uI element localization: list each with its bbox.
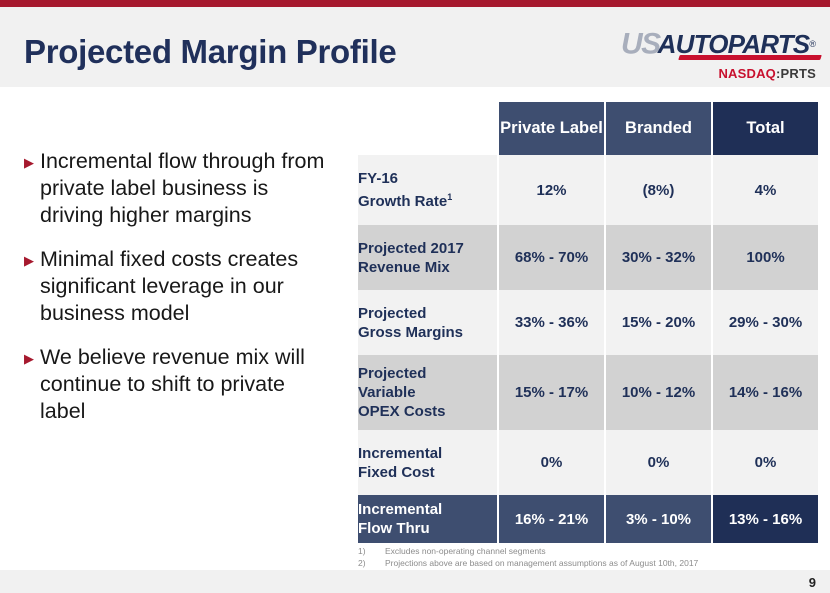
table-cell-value: 16% - 21% <box>499 495 604 543</box>
footnote-text: Projections above are based on managemen… <box>385 558 788 570</box>
footnote-marker: 1 <box>447 192 452 202</box>
table-cell-value: 33% - 36% <box>499 290 604 355</box>
logo-us-text: US <box>621 27 660 60</box>
bullet-text: We believe revenue mix will continue to … <box>40 344 336 425</box>
column-header-blank <box>358 102 497 155</box>
bullet-item: ▶Incremental flow through from private l… <box>24 148 336 229</box>
table-cell-value: 0% <box>713 430 818 495</box>
page-title: Projected Margin Profile <box>24 33 396 71</box>
table-row: IncrementalFixed Cost0%0%0% <box>358 430 818 495</box>
bullet-text: Incremental flow through from private la… <box>40 148 336 229</box>
table-cell-value: 4% <box>713 155 818 225</box>
top-accent-bar <box>0 0 830 7</box>
column-header-branded: Branded <box>606 102 711 155</box>
table-row: Projected 2017Revenue Mix68% - 70%30% - … <box>358 225 818 290</box>
table-cell-value: 3% - 10% <box>606 495 711 543</box>
bullet-item: ▶We believe revenue mix will continue to… <box>24 344 336 425</box>
bullet-item: ▶Minimal fixed costs creates significant… <box>24 246 336 327</box>
row-label: ProjectedVariableOPEX Costs <box>358 355 497 430</box>
table-body: FY-16Growth Rate112%(8%)4%Projected 2017… <box>358 155 818 543</box>
table-row: ProjectedVariableOPEX Costs15% - 17%10% … <box>358 355 818 430</box>
footnote-row: 1)Excludes non-operating channel segment… <box>358 546 788 558</box>
stock-ticker: NASDAQ:PRTS <box>606 66 816 81</box>
table-cell-value: 13% - 16% <box>713 495 818 543</box>
row-label: Projected 2017Revenue Mix <box>358 225 497 290</box>
bullet-text: Minimal fixed costs creates significant … <box>40 246 336 327</box>
margin-profile-table: Private Label Branded Total FY-16Growth … <box>356 102 820 543</box>
row-label: IncrementalFixed Cost <box>358 430 497 495</box>
page-number: 9 <box>809 575 816 590</box>
footnote-number: 1) <box>358 546 385 558</box>
logo-wordmark: USAUTOPARTS® <box>621 29 816 59</box>
column-header-total: Total <box>713 102 818 155</box>
row-label: ProjectedGross Margins <box>358 290 497 355</box>
row-label: IncrementalFlow Thru <box>358 495 497 543</box>
ticker-symbol: PRTS <box>781 66 816 81</box>
table-cell-value: 12% <box>499 155 604 225</box>
table-header: Private Label Branded Total <box>358 102 818 155</box>
table-row: FY-16Growth Rate112%(8%)4% <box>358 155 818 225</box>
ticker-exchange: NASDAQ <box>718 66 776 81</box>
row-label: FY-16Growth Rate1 <box>358 155 497 225</box>
bullet-triangle-icon: ▶ <box>24 246 40 267</box>
table-cell-value: 29% - 30% <box>713 290 818 355</box>
table-cell-value: 14% - 16% <box>713 355 818 430</box>
table-cell-value: 0% <box>499 430 604 495</box>
table-row: IncrementalFlow Thru16% - 21%3% - 10%13%… <box>358 495 818 543</box>
bullet-list: ▶Incremental flow through from private l… <box>24 148 336 442</box>
table-cell-value: 15% - 17% <box>499 355 604 430</box>
bullet-triangle-icon: ▶ <box>24 148 40 169</box>
table-cell-value: 15% - 20% <box>606 290 711 355</box>
footnote-row: 2)Projections above are based on managem… <box>358 558 788 570</box>
footnotes: 1)Excludes non-operating channel segment… <box>358 546 788 569</box>
table-cell-value: 10% - 12% <box>606 355 711 430</box>
table-row: ProjectedGross Margins33% - 36%15% - 20%… <box>358 290 818 355</box>
brand-logo: USAUTOPARTS® NASDAQ:PRTS <box>606 29 816 81</box>
footnote-text: Excludes non-operating channel segments <box>385 546 788 558</box>
table-cell-value: (8%) <box>606 155 711 225</box>
table-cell-value: 68% - 70% <box>499 225 604 290</box>
table-cell-value: 100% <box>713 225 818 290</box>
footnote-number: 2) <box>358 558 385 570</box>
slide-footer <box>0 570 830 593</box>
table-header-row: Private Label Branded Total <box>358 102 818 155</box>
registered-trademark-icon: ® <box>809 39 816 49</box>
slide-header: Projected Margin Profile USAUTOPARTS® NA… <box>0 7 830 87</box>
table-cell-value: 30% - 32% <box>606 225 711 290</box>
table-cell-value: 0% <box>606 430 711 495</box>
bullet-triangle-icon: ▶ <box>24 344 40 365</box>
logo-swoosh-icon <box>678 55 822 60</box>
column-header-private-label: Private Label <box>499 102 604 155</box>
